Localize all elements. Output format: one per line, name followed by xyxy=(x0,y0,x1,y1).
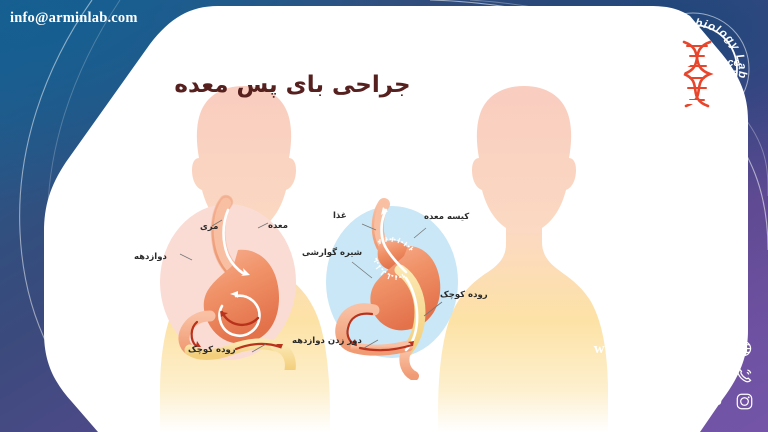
poster-canvas: جراحی بای پس معده xyxy=(0,0,768,432)
email-address[interactable]: info@arminlab.com xyxy=(10,10,138,27)
microscope-icon xyxy=(668,54,698,104)
label-stomach: معده xyxy=(268,221,288,231)
label-small-intestine: روده کوچک xyxy=(188,345,236,355)
label-esophagus: مری xyxy=(200,222,218,232)
contact-row-phone[interactable]: 021-41884 xyxy=(528,362,754,388)
page-title: جراحی بای پس معده xyxy=(0,72,585,98)
instagram-icon xyxy=(734,391,754,411)
logo-since-label: Since xyxy=(710,57,739,69)
phone-number[interactable]: 021-41884 xyxy=(528,367,722,384)
company-logo[interactable]: Armin Pathobiology Lab Since 1955 xyxy=(632,8,754,130)
label-digestive-juice: شیره گوارشی xyxy=(302,248,362,258)
contact-block: www.arminlab.com 021-41884 xyxy=(528,336,754,414)
label-food: غذا xyxy=(333,211,347,221)
logo-since-year: 1955 xyxy=(713,69,738,81)
label-duodenal-bypass: دور زدن دوازدهه xyxy=(292,336,362,346)
phone-icon xyxy=(734,365,754,385)
label-small-intestine: روده کوچک xyxy=(440,290,488,300)
diagram-gastric-bypass: غذا کیسه معده شیره گوارشی روده کوچک دور … xyxy=(300,190,500,380)
gastric-bypass-illustration xyxy=(300,190,500,380)
label-duodenum: دوازدهه xyxy=(134,252,167,262)
globe-icon xyxy=(734,339,754,359)
instagram-handle[interactable]: @armin.lab xyxy=(528,393,722,410)
contact-row-website[interactable]: www.arminlab.com xyxy=(528,336,754,362)
website-url[interactable]: www.arminlab.com xyxy=(528,341,722,358)
contact-row-instagram[interactable]: @armin.lab xyxy=(528,388,754,414)
label-stomach-pouch: کیسه معده xyxy=(424,212,469,222)
